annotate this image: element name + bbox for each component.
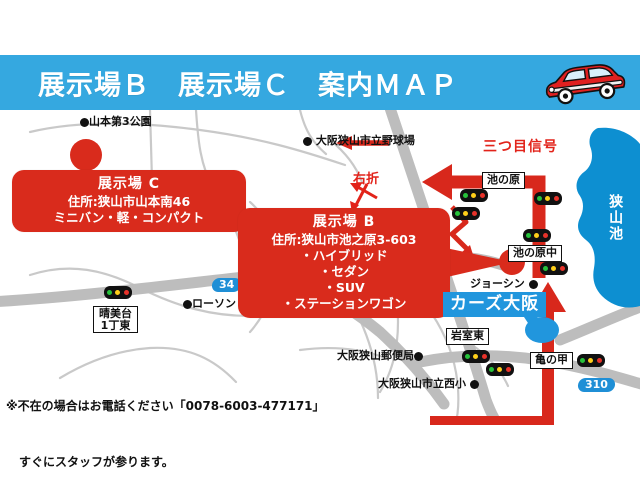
poi-marker-dot bbox=[303, 137, 312, 146]
footer-note-line-2: すぐにスタッフが参ります。 bbox=[6, 453, 426, 472]
shop-label-cars-osaka: カーズ大阪 bbox=[443, 292, 546, 317]
callout-site-c-address: 住所:狭山市山本南46 bbox=[22, 194, 236, 210]
poi-marker-dot bbox=[80, 118, 89, 127]
poi-marker-dot bbox=[529, 280, 538, 289]
footer-note: ※不在の場合はお電話ください「0078-6003-477171」 すぐにスタッフ… bbox=[6, 360, 426, 480]
traffic-signal-icon bbox=[452, 207, 480, 220]
plate-iwamuro-higashi: 岩室東 bbox=[446, 328, 489, 345]
poi-yamamoto-dai3-koen: 山本第3公園 bbox=[80, 116, 152, 127]
callout-site-b-item-0: ・ハイブリッド bbox=[248, 248, 440, 264]
callout-site-b-address: 住所:狭山市池之原3-603 bbox=[248, 232, 440, 248]
callout-site-c: 展示場 C 住所:狭山市山本南46 ミニバン・軽・コンパクト bbox=[12, 170, 246, 232]
traffic-signal-icon bbox=[577, 354, 605, 367]
callout-site-c-items: ミニバン・軽・コンパクト bbox=[22, 210, 236, 226]
traffic-signal-icon bbox=[486, 363, 514, 376]
poi-osaka-sayama-baseball: 大阪狭山市立野球場 bbox=[303, 135, 415, 146]
traffic-signal-icon bbox=[462, 350, 490, 363]
traffic-signal-icon bbox=[460, 189, 488, 202]
plate-ikenohara-naka: 池の原中 bbox=[508, 245, 562, 262]
plate-ikenohara: 池の原 bbox=[482, 172, 525, 189]
poi-joshin: ジョーシン bbox=[470, 278, 538, 289]
traffic-signal-icon bbox=[104, 286, 132, 299]
poi-marker-dot bbox=[183, 300, 192, 309]
poi-marker-dot bbox=[470, 380, 479, 389]
callout-site-b-title: 展示場 B bbox=[248, 214, 440, 232]
annotation-turn-right: 右折 bbox=[353, 173, 379, 186]
callout-site-b: 展示場 B 住所:狭山市池之原3-603 ・ハイブリッド ・セダン ・SUV ・… bbox=[238, 208, 450, 318]
traffic-signal-icon bbox=[540, 262, 568, 275]
footer-note-line-1: ※不在の場合はお電話ください「0078-6003-477171」 bbox=[6, 397, 426, 416]
plate-kamenoko: 亀の甲 bbox=[530, 352, 573, 369]
header-banner: 展示場Ｂ 展示場Ｃ 案内ＭＡＰ bbox=[0, 55, 640, 110]
poi-lawson: ローソン bbox=[183, 298, 236, 309]
callout-site-c-title: 展示場 C bbox=[22, 176, 236, 194]
page-title: 展示場Ｂ 展示場Ｃ 案内ＭＡＰ bbox=[38, 63, 458, 102]
traffic-signal-icon bbox=[534, 192, 562, 205]
traffic-signal-icon bbox=[523, 229, 551, 242]
map-flyer: 展示場Ｂ 展示場Ｃ 案内ＭＡＰ bbox=[0, 0, 640, 480]
plate-harumidai-1chome-higashi: 晴美台1丁東 bbox=[93, 306, 138, 333]
lake-label: 狭山池 bbox=[607, 194, 623, 242]
callout-site-b-item-3: ・ステーションワゴン bbox=[248, 296, 440, 312]
annotation-third-signal: 三つ目信号 bbox=[483, 140, 558, 154]
route-shield-310: 310 bbox=[577, 378, 615, 392]
callout-site-b-item-2: ・SUV bbox=[248, 280, 440, 296]
callout-site-b-item-1: ・セダン bbox=[248, 264, 440, 280]
red-minivan-icon bbox=[536, 61, 628, 105]
